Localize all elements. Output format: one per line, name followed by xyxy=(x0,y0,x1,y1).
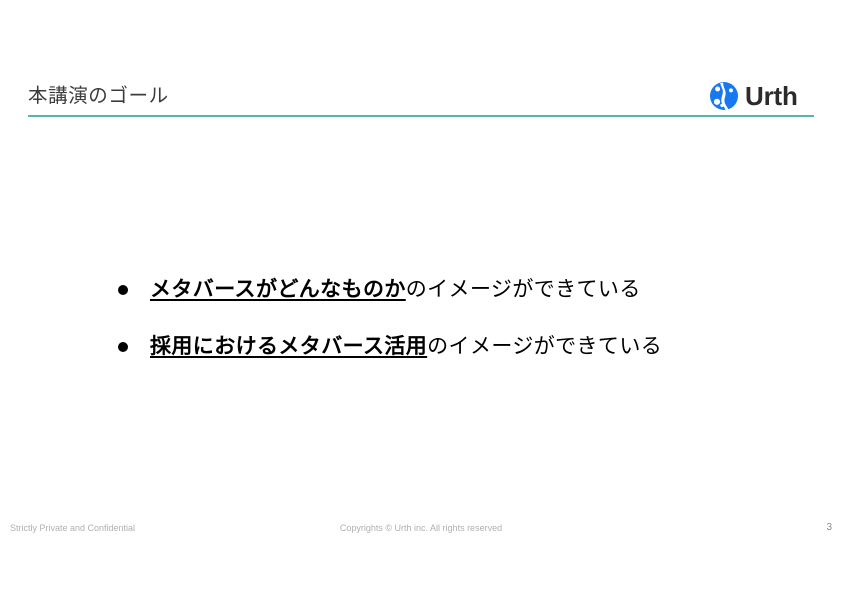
brand-logo: Urth xyxy=(709,80,798,112)
list-item: メタバースがどんなものかのイメージができている xyxy=(118,275,818,305)
list-item: 採用におけるメタバース活用のイメージができている xyxy=(118,332,818,362)
page-title: 本講演のゴール xyxy=(28,83,169,109)
bullet-point-icon xyxy=(118,285,128,295)
bullet-emphasis: メタバースがどんなものか xyxy=(150,278,406,301)
page-number: 3 xyxy=(826,518,832,538)
bullet-point-icon xyxy=(118,342,128,352)
bullet-emphasis: 採用におけるメタバース活用 xyxy=(150,335,427,358)
bullet-text: 採用におけるメタバース活用のイメージができている xyxy=(150,332,662,362)
globe-icon xyxy=(709,81,739,111)
header-divider xyxy=(28,115,814,117)
slide-footer: Strictly Private and Confidential Copyri… xyxy=(0,518,842,538)
presentation-slide: 本講演のゴール Urth メタバースがどんなものかのイメージができている xyxy=(0,0,842,595)
bullet-list: メタバースがどんなものかのイメージができている 採用におけるメタバース活用のイメ… xyxy=(118,275,818,389)
bullet-tail: のイメージができている xyxy=(427,335,662,358)
slide-header: 本講演のゴール Urth xyxy=(0,0,842,122)
bullet-text: メタバースがどんなものかのイメージができている xyxy=(150,275,641,305)
copyright-notice: Copyrights © Urth inc. All rights reserv… xyxy=(0,518,842,538)
brand-name: Urth xyxy=(745,81,798,111)
bullet-tail: のイメージができている xyxy=(406,278,641,301)
